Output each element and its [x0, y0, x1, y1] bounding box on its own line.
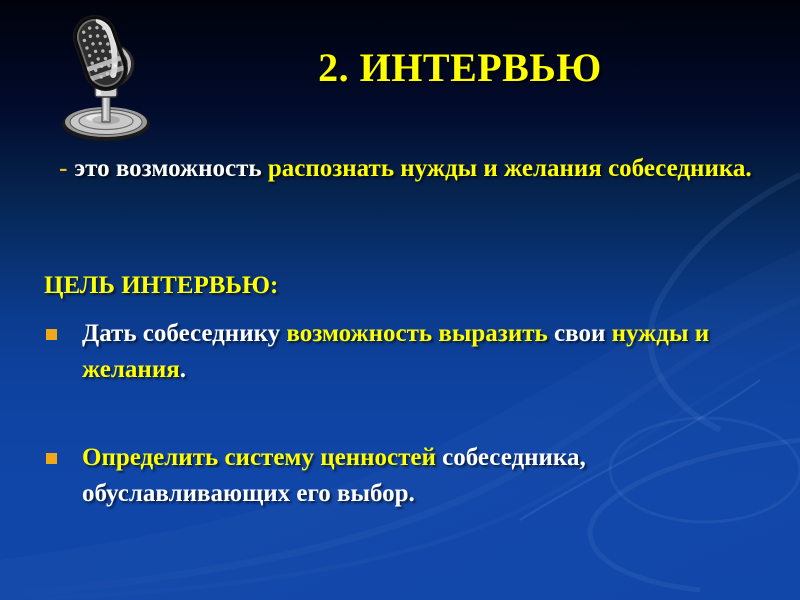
subtitle-white-text: это возможность [74, 155, 267, 182]
bullet-segment: Определить систему ценностей [82, 444, 436, 471]
slide-subtitle: -это возможность распознать нужды и жела… [42, 152, 762, 186]
list-item: Дать собеседнику возможность выразить св… [44, 316, 744, 387]
microphone-icon [52, 6, 160, 148]
bullet-segment: . [180, 356, 186, 383]
dash-marker: - [52, 152, 74, 186]
subtitle-yellow-text: распознать нужды и желания собеседника. [268, 155, 752, 182]
presentation-slide: 2. ИНТЕРВЬЮ -это возможность распознать … [0, 0, 800, 600]
bullet-text: Определить систему ценностей собеседника… [44, 440, 744, 511]
list-item: Определить систему ценностей собеседника… [44, 440, 744, 511]
bullet-square-icon [46, 453, 57, 464]
bullet-text: Дать собеседнику возможность выразить св… [44, 316, 744, 387]
bullet-square-icon [46, 329, 57, 340]
bullet-segment: возможность выразить [286, 320, 547, 347]
goal-heading: ЦЕЛЬ ИНТЕРВЬЮ: [44, 272, 278, 300]
bullet-segment: Дать собеседнику [82, 320, 286, 347]
slide-title: 2. ИНТЕРВЬЮ [180, 44, 740, 91]
bullet-segment: свои [548, 320, 612, 347]
